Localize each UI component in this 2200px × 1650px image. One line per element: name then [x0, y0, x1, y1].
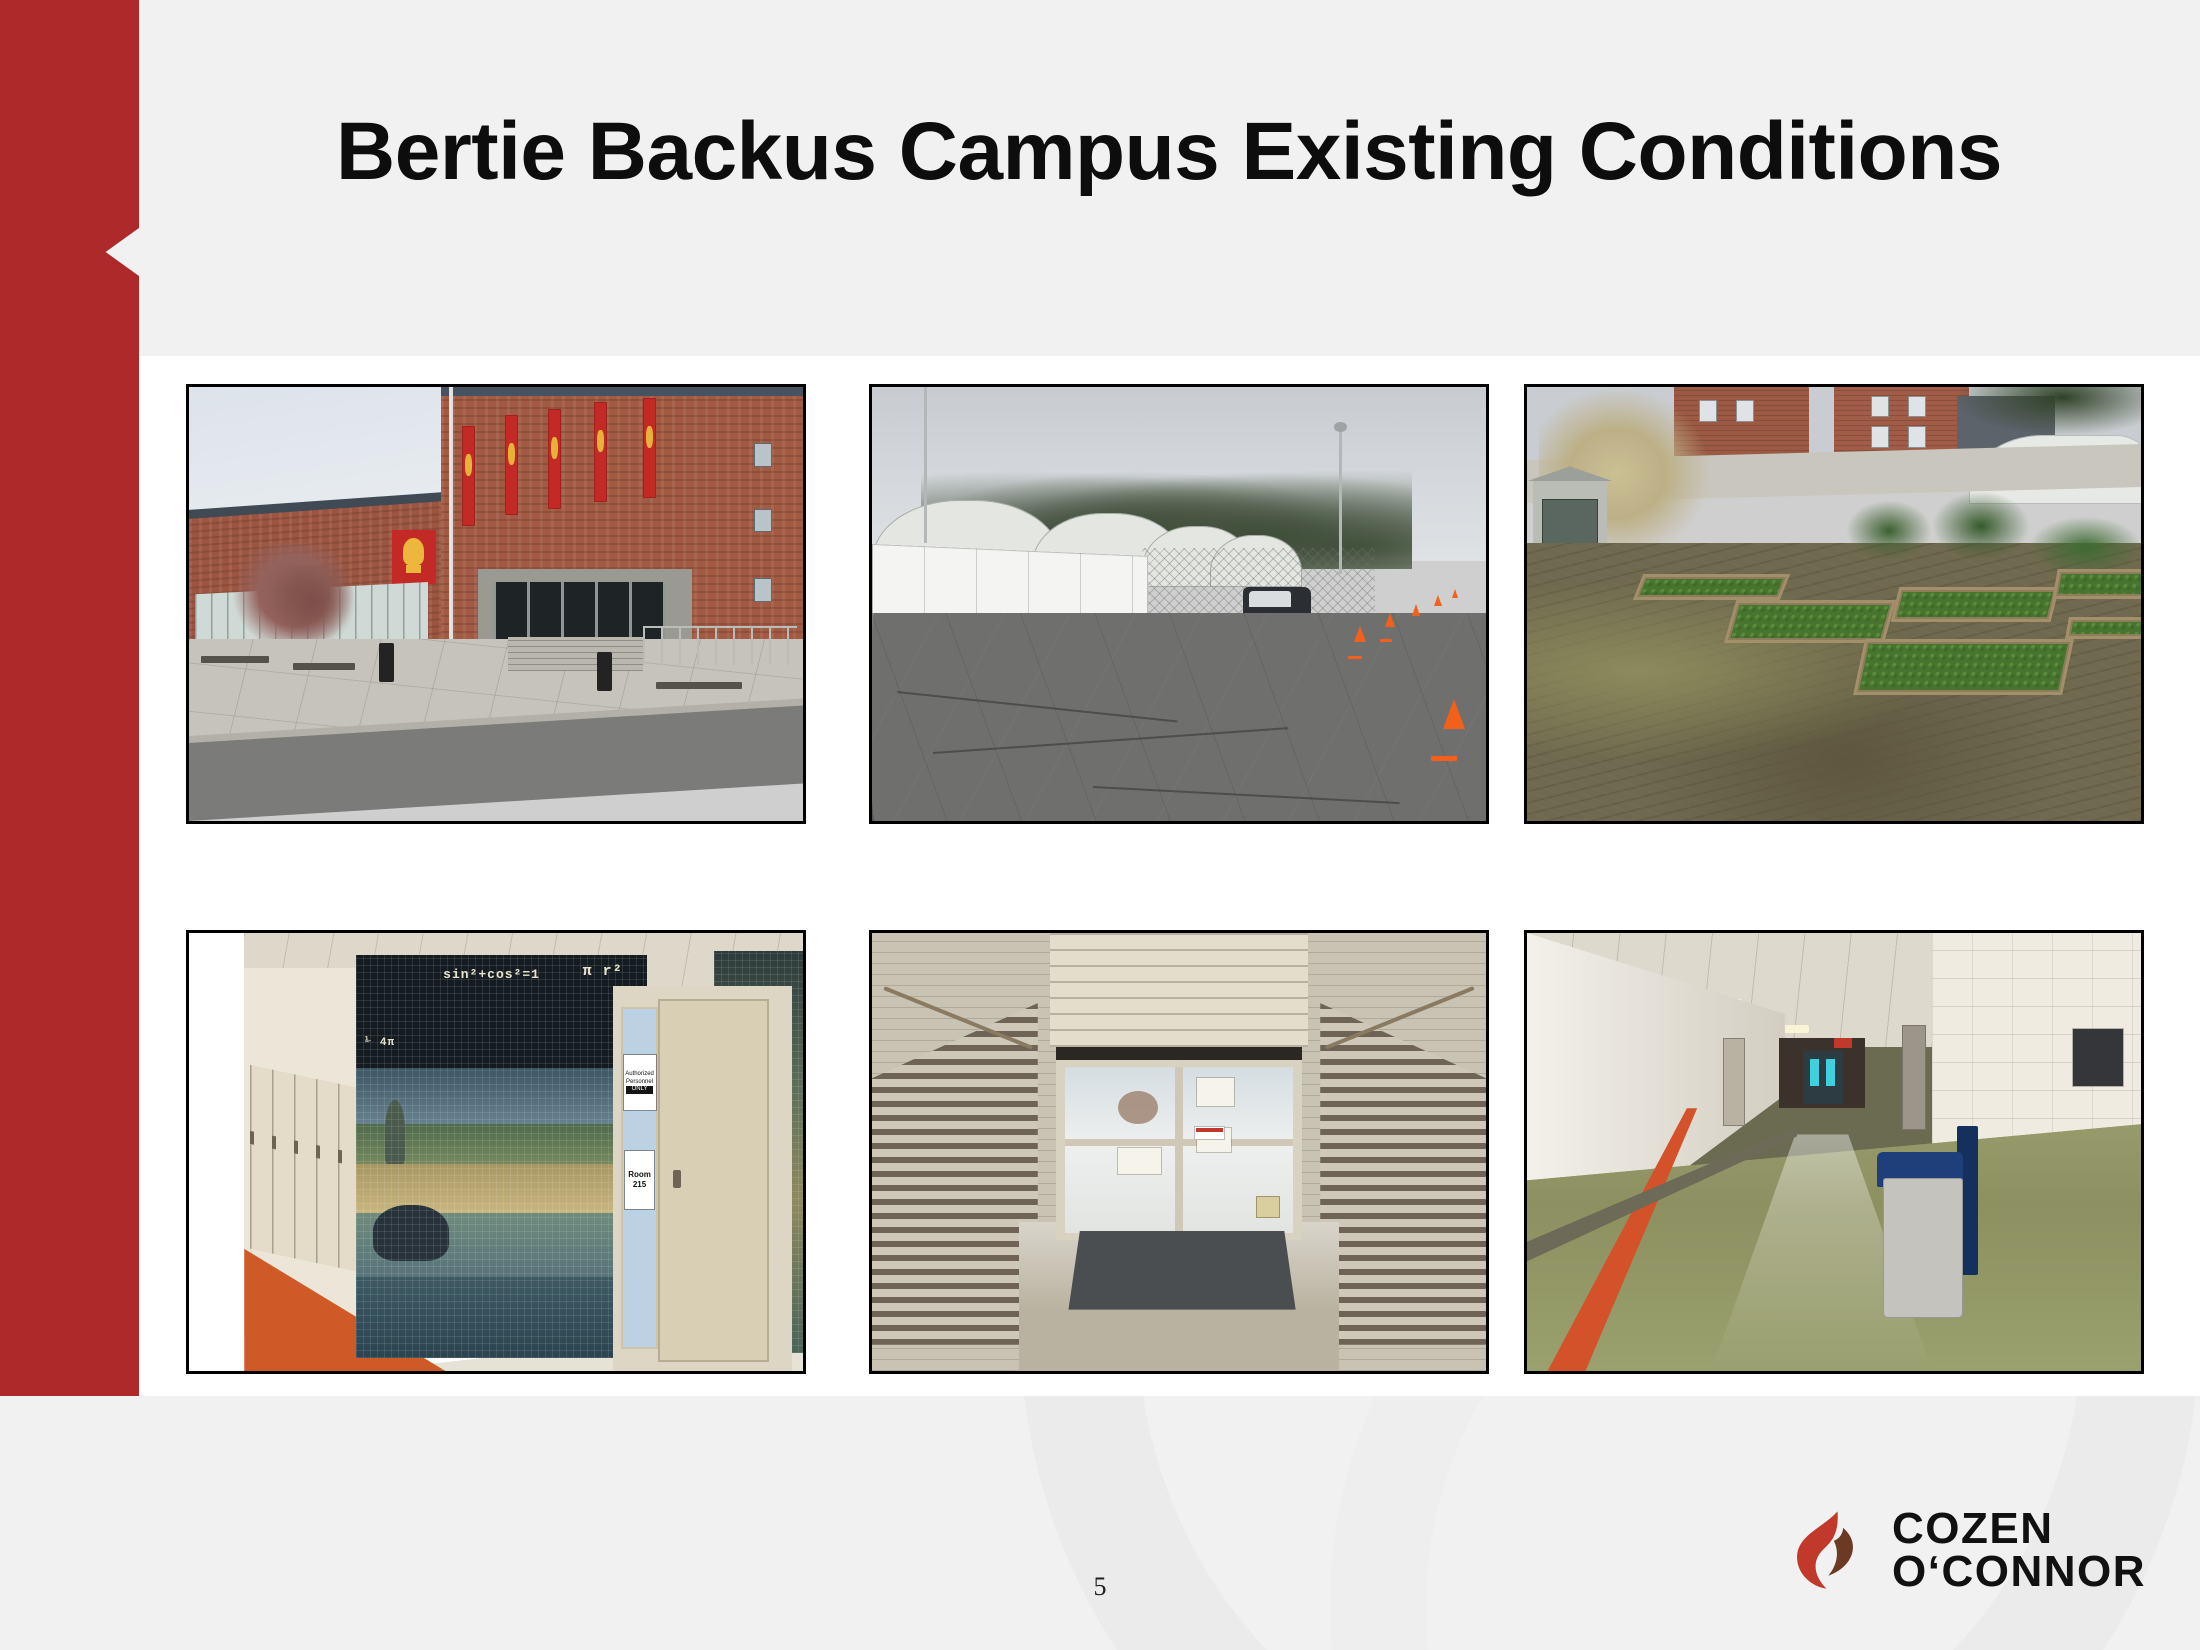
mural-pixel-grid: [356, 955, 647, 1358]
garden-shed: [1533, 478, 1607, 552]
cone-base-foreground: [1431, 756, 1457, 761]
house-window-3: [1871, 396, 1889, 418]
logo-line-1: COZEN: [1892, 1507, 2146, 1550]
overhanging-foliage: [1945, 387, 2141, 439]
photo-parking-lot: [869, 384, 1489, 824]
door-notice-1: [1197, 1078, 1234, 1106]
room-number-sign: Room 215: [625, 1151, 654, 1209]
door-mullion-center: [1175, 1067, 1184, 1233]
trash-can-2: [597, 652, 612, 691]
door-hours-sign: [1118, 1148, 1161, 1174]
far-double-doors[interactable]: [1803, 1051, 1843, 1104]
house-window-6: [1908, 426, 1926, 448]
wall-sign: [2073, 1029, 2122, 1086]
waste-bin: [1883, 1178, 1963, 1318]
shrub-1: [1846, 500, 1932, 561]
banner-2: [505, 415, 518, 515]
bench-3: [656, 682, 742, 689]
lockers: [250, 1065, 373, 1275]
trash-can-1: [379, 643, 394, 682]
banner-3: [548, 409, 561, 509]
traffic-cone-2: [1385, 613, 1395, 627]
window-upper-3: [754, 578, 772, 602]
lamp-head: [1334, 422, 1346, 432]
logo-line-2: O‘CONNOR: [1892, 1550, 2146, 1593]
photo-stairwell-vestibule: EXIT: [869, 930, 1489, 1374]
traffic-cone-1: [1354, 626, 1366, 642]
mural-equation-2: π r²: [583, 963, 623, 980]
window-upper-2: [754, 509, 772, 533]
cozen-oconnor-logo: COZEN O‘CONNOR: [1786, 1498, 2166, 1602]
door-rail-horizontal: [1065, 1139, 1292, 1146]
window-upper-1: [754, 443, 772, 467]
classroom-door-right[interactable]: [1902, 1025, 1927, 1130]
photo-hallway-mural: sin²+cos²=1 π r² ⅟ 4π Authorize: [186, 930, 806, 1374]
exit-sign-far: [1834, 1038, 1852, 1048]
classroom-door-215[interactable]: [658, 999, 770, 1363]
photo-community-garden: [1524, 384, 2144, 824]
raised-bed-4: [1853, 639, 2074, 695]
flame-mark-icon: [1786, 1504, 1878, 1596]
handrail-ramp: [643, 626, 797, 665]
tree-2: [269, 565, 355, 647]
bench-2: [293, 663, 354, 670]
authorized-personnel-sign: Authorized Personnel ONLY: [624, 1055, 656, 1110]
presentation-slide: Bertie Backus Campus Existing Conditions: [0, 0, 2200, 1650]
photo-corridor: [1524, 930, 2144, 1374]
raised-bed-2: [1723, 600, 1895, 643]
light-pole-1: [924, 387, 927, 543]
banner-5: [643, 398, 656, 498]
mural-equation-3: ⅟ 4π: [365, 1035, 395, 1049]
flag-pole: [449, 387, 454, 652]
raised-bed-3: [1891, 587, 2059, 622]
raised-bed-6: [2065, 617, 2141, 639]
shrub-2: [1932, 491, 2030, 560]
house-window-2: [1736, 400, 1754, 422]
door-sidelite: Authorized Personnel ONLY Room 215: [621, 1007, 657, 1349]
photo-campus-exterior: [186, 384, 806, 824]
banner-1: [462, 426, 475, 526]
raised-bed-1: [1632, 574, 1790, 600]
page-number: 5: [1060, 1572, 1140, 1602]
dc-flag-decal: [1194, 1126, 1225, 1140]
banner-4: [594, 402, 607, 502]
mural-equation-1: sin²+cos²=1: [443, 967, 540, 982]
traffic-cone-5: [1452, 589, 1458, 598]
traffic-cone-4: [1434, 595, 1442, 606]
entrance-mat: [1068, 1231, 1295, 1310]
traffic-cone-foreground: [1443, 699, 1465, 729]
classroom-door-left[interactable]: [1723, 1038, 1744, 1126]
house-window-4: [1908, 396, 1926, 418]
traffic-cone-3: [1412, 604, 1420, 616]
photo-grid: sin²+cos²=1 π r² ⅟ 4π Authorize: [186, 384, 2144, 1374]
house-window-5: [1871, 426, 1889, 448]
pixel-tile-mural: sin²+cos²=1 π r² ⅟ 4π: [356, 955, 647, 1358]
floor-placard: [1256, 1196, 1281, 1218]
bench-1: [201, 656, 269, 663]
cone-base-2: [1380, 639, 1392, 642]
door-decal-circle: [1118, 1091, 1158, 1124]
cone-base-1: [1348, 656, 1362, 659]
light-pole-2: [1339, 426, 1342, 574]
door-handle[interactable]: [673, 1170, 681, 1188]
raised-bed-5: [2052, 569, 2141, 599]
entry-steps: [508, 637, 643, 672]
page-title: Bertie Backus Campus Existing Conditions: [138, 0, 2200, 356]
torch-logo-sign: [392, 530, 436, 584]
ceiling-soffit: [1050, 933, 1308, 1047]
logo-wordmark: COZEN O‘CONNOR: [1892, 1507, 2146, 1593]
